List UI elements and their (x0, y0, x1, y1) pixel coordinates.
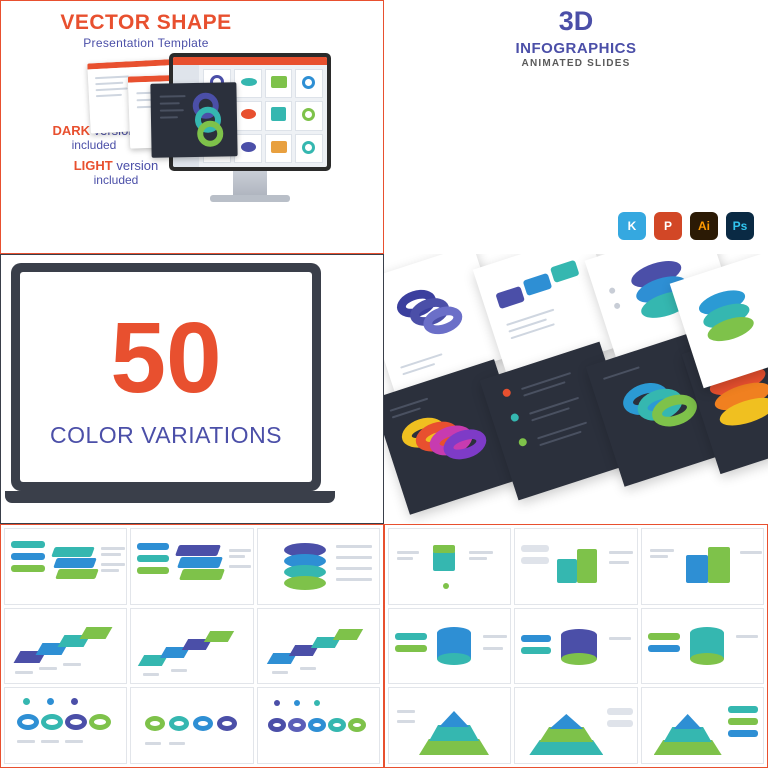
variations-number: 50 (20, 308, 312, 408)
process-flow-slide[interactable] (388, 528, 511, 605)
arrow-stairs-slide-alt[interactable] (130, 608, 253, 685)
keynote-icon[interactable]: K (618, 212, 646, 240)
panel-color-variations: 50 COLOR VARIATIONS (0, 254, 768, 524)
light-label-line2: included (41, 173, 191, 187)
laptop: 50 COLOR VARIATIONS (5, 263, 335, 509)
arrow-stairs-slide-blue[interactable] (257, 608, 380, 685)
monitor-base (210, 195, 290, 202)
screen-topbar (173, 57, 327, 65)
cylinder-compare-slide-alt[interactable] (514, 608, 637, 685)
cylinder-chart-slide[interactable] (514, 528, 637, 605)
laptop-panel: 50 COLOR VARIATIONS (0, 254, 384, 524)
ring-row-slide-purple[interactable] (257, 687, 380, 764)
powerpoint-icon-label: P (664, 219, 672, 233)
cylinder-steps-slide[interactable] (257, 528, 380, 605)
light-label-rest: version (113, 158, 159, 173)
infographics-subtitle2: ANIMATED SLIDES (384, 58, 768, 69)
dark-label-strong: DARK (52, 123, 90, 138)
floating-dark-slide-card (150, 82, 237, 157)
illustrator-icon-label: Ai (698, 219, 710, 233)
variations-caption: COLOR VARIATIONS (20, 422, 312, 449)
cylinder-compare-slide-green[interactable] (641, 608, 764, 685)
infographics-subtitle: INFOGRAPHICS (384, 40, 768, 57)
tilted-slides-panel (384, 254, 768, 524)
layered-stack-slide-alt[interactable] (130, 528, 253, 605)
panel-vector-shape: VECTOR SHAPE Presentation Template DARK … (0, 0, 384, 254)
cylinder-chart-slide-alt[interactable] (641, 528, 764, 605)
ring-shape (197, 120, 223, 146)
photoshop-icon-label: Ps (733, 219, 748, 233)
illustrator-icon[interactable]: Ai (690, 212, 718, 240)
panel-thumbnails-right (384, 524, 768, 768)
dark-card-content (150, 82, 237, 157)
laptop-body: 50 COLOR VARIATIONS (11, 263, 321, 491)
laptop-screen: 50 COLOR VARIATIONS (20, 272, 312, 482)
infographics-title: 3D (384, 6, 768, 37)
panel-3d-infographics: 3D INFOGRAPHICS ANIMATED SLIDES (384, 0, 768, 254)
app-icon-row: K P Ai Ps (618, 212, 754, 240)
ring-row-slide-green[interactable] (130, 687, 253, 764)
pyramid-slide-alt[interactable] (514, 687, 637, 764)
thumbnail-grid-left (4, 528, 380, 764)
keynote-icon-label: K (628, 219, 637, 233)
ring-row-slide[interactable] (4, 687, 127, 764)
powerpoint-icon[interactable]: P (654, 212, 682, 240)
panel-thumbnails-left (0, 524, 384, 768)
light-label-strong: LIGHT (74, 158, 113, 173)
pyramid-slide-green[interactable] (641, 687, 764, 764)
vector-shape-title: VECTOR SHAPE (1, 11, 291, 35)
photoshop-icon[interactable]: Ps (726, 212, 754, 240)
cylinder-compare-slide[interactable] (388, 608, 511, 685)
arrow-stairs-slide[interactable] (4, 608, 127, 685)
pyramid-slide[interactable] (388, 687, 511, 764)
monitor-stand (233, 171, 267, 197)
laptop-base (5, 491, 335, 503)
vector-shape-subtitle: Presentation Template (1, 36, 291, 50)
layered-stack-slide[interactable] (4, 528, 127, 605)
thumbnail-grid-right (388, 528, 764, 764)
promo-collage: VECTOR SHAPE Presentation Template DARK … (0, 0, 768, 768)
